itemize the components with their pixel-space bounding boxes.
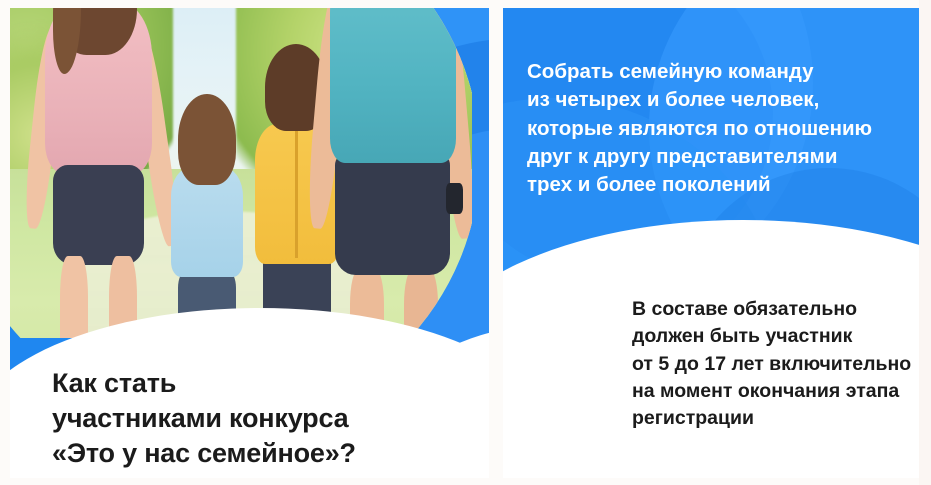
boy-jacket-zipper xyxy=(295,131,298,258)
age-req-line-4: на момент окончания этапа xyxy=(632,378,919,405)
age-req-line-2: должен быть участник xyxy=(632,323,919,350)
age-req-line-3: от 5 до 17 лет включительно xyxy=(632,351,919,378)
age-req-line-1: В составе обязательно xyxy=(632,296,919,323)
team-req-line-1: Собрать семейную команду xyxy=(527,58,919,86)
age-requirement-text: В составе обязательно должен быть участн… xyxy=(632,296,919,432)
father-shorts xyxy=(335,153,449,275)
requirements-card[interactable]: Собрать семейную команду из четырех и бо… xyxy=(503,8,919,478)
person-father xyxy=(321,8,464,338)
age-req-line-5: регистрации xyxy=(632,405,919,432)
title-line-3: «Это у нас семейное»? xyxy=(52,436,472,471)
father-tshirt xyxy=(330,8,456,163)
team-req-line-3: которые являются по отношению xyxy=(527,115,919,143)
team-req-line-2: из четырех и более человек, xyxy=(527,86,919,114)
mother-shorts xyxy=(53,165,145,265)
family-photo-circle-mask xyxy=(10,8,472,338)
title-line-2: участниками конкурса xyxy=(52,401,472,436)
team-req-line-5: трех и более поколений xyxy=(527,171,919,199)
how-to-participate-card[interactable]: Как стать участниками конкурса «Это у на… xyxy=(10,8,489,478)
girl-hair xyxy=(178,94,236,186)
title-line-1: Как стать xyxy=(52,366,472,401)
family-photo xyxy=(10,8,472,338)
person-mother xyxy=(35,8,162,338)
team-requirement-text: Собрать семейную команду из четырех и бо… xyxy=(527,58,919,199)
person-girl xyxy=(162,105,252,338)
slide-stage: Как стать участниками конкурса «Это у на… xyxy=(0,0,931,485)
mother-leg-left xyxy=(60,256,88,338)
father-watch xyxy=(446,183,463,214)
park-scene xyxy=(10,8,472,338)
left-card-title: Как стать участниками конкурса «Это у на… xyxy=(52,366,472,471)
right-page-edge-strip xyxy=(919,0,931,485)
team-req-line-4: друг к другу представителями xyxy=(527,143,919,171)
